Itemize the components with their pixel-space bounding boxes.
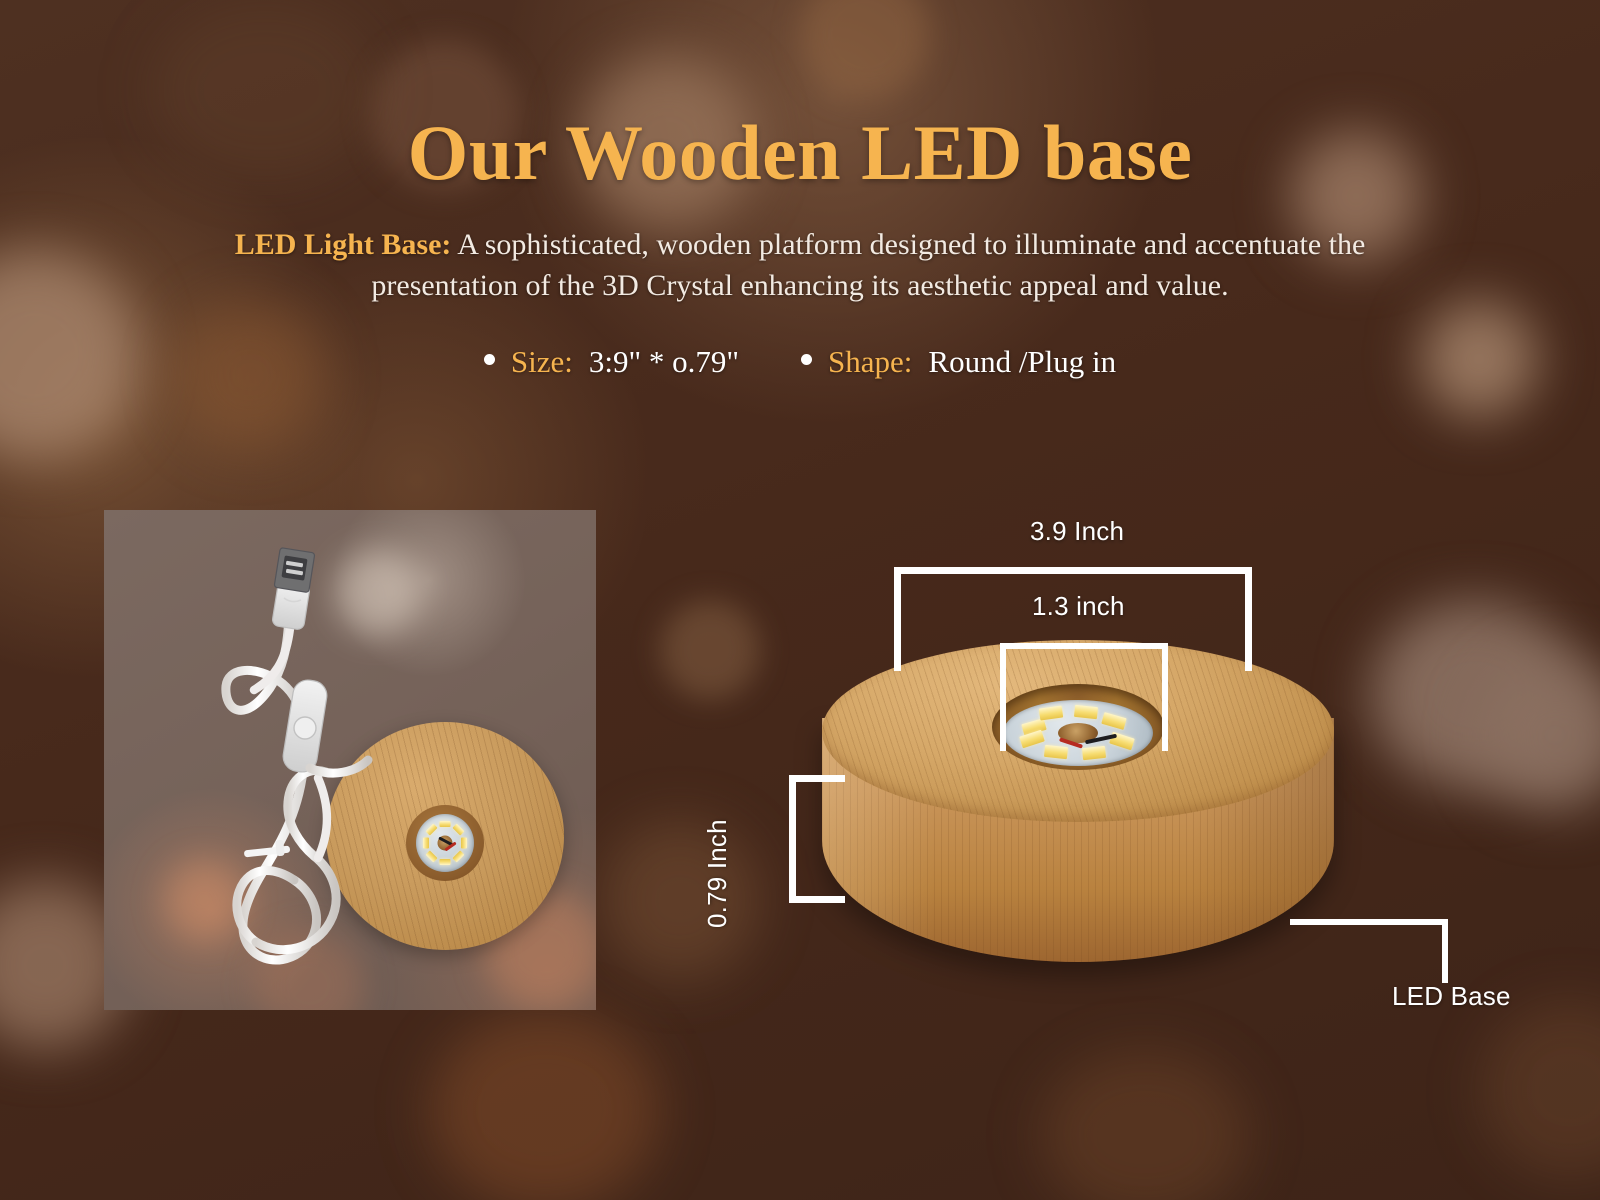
bracket-line: [789, 775, 796, 903]
callout-label-led-base: LED Base: [1392, 981, 1511, 1012]
bracket-tick: [1000, 643, 1006, 751]
bokeh-circle: [600, 820, 760, 980]
usb-plug: [272, 548, 315, 631]
bracket-tick: [1162, 643, 1168, 751]
bracket-tick: [789, 775, 845, 782]
led-chip: [1039, 706, 1063, 721]
description-lead: LED Light Base:: [235, 228, 452, 261]
led-chip: [1101, 712, 1126, 730]
spec-item-size: Size: 3:9" * o.79": [484, 344, 739, 380]
dimension-label-width: 3.9 Inch: [1030, 516, 1124, 547]
spec-label: Shape:: [828, 344, 912, 380]
led-module: [1003, 700, 1153, 766]
spec-label: Size:: [511, 344, 573, 380]
usb-cable-illustration: [104, 510, 596, 1010]
leader-line-vertical: [1442, 919, 1448, 983]
led-chip: [1082, 746, 1106, 760]
spec-value: Round /Plug in: [928, 344, 1116, 380]
bracket-line: [1000, 643, 1168, 649]
bokeh-circle: [660, 600, 760, 700]
bracket-tick: [1245, 567, 1252, 671]
leader-line-horizontal: [1290, 919, 1448, 925]
spec-list: Size: 3:9" * o.79" Shape: Round /Plug in: [0, 344, 1600, 380]
spec-value: 3:9" * o.79": [589, 344, 739, 380]
led-chip: [1044, 745, 1068, 759]
led-chip: [1074, 705, 1098, 719]
bracket-tick: [789, 896, 845, 903]
spec-item-shape: Shape: Round /Plug in: [801, 344, 1116, 380]
slide-canvas: Our Wooden LED base LED Light Base: A so…: [0, 0, 1600, 1200]
dimension-label-height: 0.79 Inch: [702, 819, 733, 928]
bracket-line: [894, 567, 1252, 574]
page-title: Our Wooden LED base: [0, 108, 1600, 198]
cable-tie: [244, 840, 290, 858]
bullet-dot-icon: [801, 354, 812, 365]
bokeh-circle: [430, 1010, 660, 1200]
led-recess: [992, 684, 1164, 770]
description-paragraph: LED Light Base: A sophisticated, wooden …: [170, 224, 1430, 307]
description-body: A sophisticated, wooden platform designe…: [371, 228, 1365, 302]
bullet-dot-icon: [484, 354, 495, 365]
dimension-label-inner: 1.3 inch: [1032, 591, 1125, 622]
wooden-base-3d-render: [822, 640, 1334, 1000]
bracket-tick: [894, 567, 901, 671]
product-photo-panel: [104, 510, 596, 1010]
